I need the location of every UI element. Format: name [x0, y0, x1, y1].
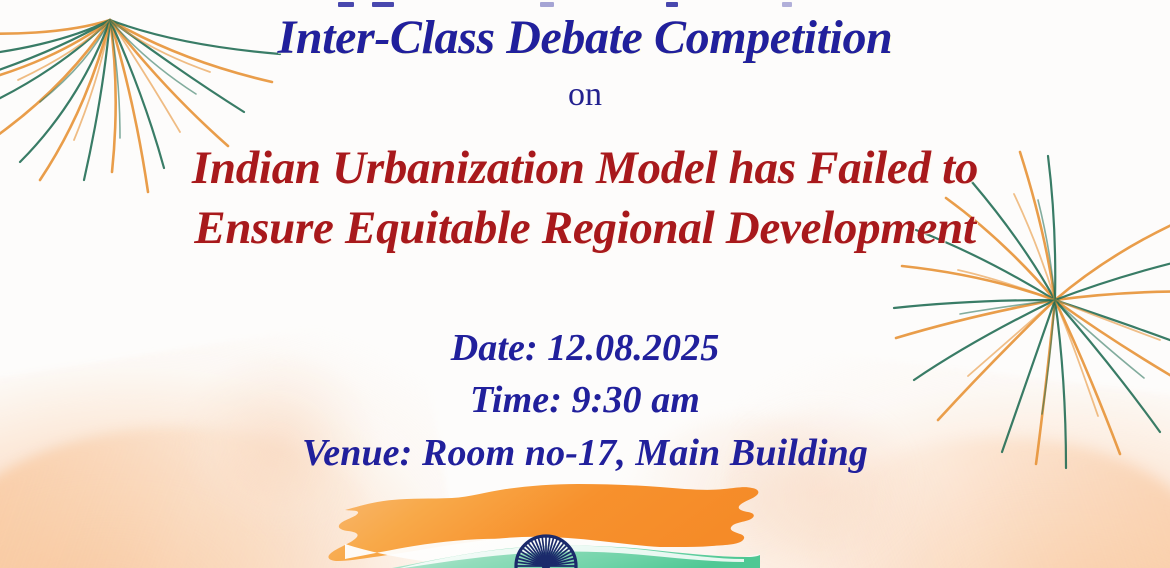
debate-topic: Indian Urbanization Model has Failed to … [0, 138, 1170, 258]
poster-content: Inter-Class Debate Competition on Indian… [0, 0, 1170, 568]
poster-canvas: Inter-Class Debate Competition on Indian… [0, 0, 1170, 568]
event-date: Date: 12.08.2025 [0, 322, 1170, 374]
event-details: Date: 12.08.2025 Time: 9:30 am Venue: Ro… [0, 322, 1170, 479]
connector-word: on [0, 78, 1170, 112]
event-time: Time: 9:30 am [0, 374, 1170, 426]
debate-topic-line-2: Ensure Equitable Regional Development [0, 198, 1170, 258]
event-venue: Venue: Room no-17, Main Building [0, 427, 1170, 479]
debate-topic-line-1: Indian Urbanization Model has Failed to [0, 138, 1170, 198]
page-title: Inter-Class Debate Competition [0, 14, 1170, 62]
